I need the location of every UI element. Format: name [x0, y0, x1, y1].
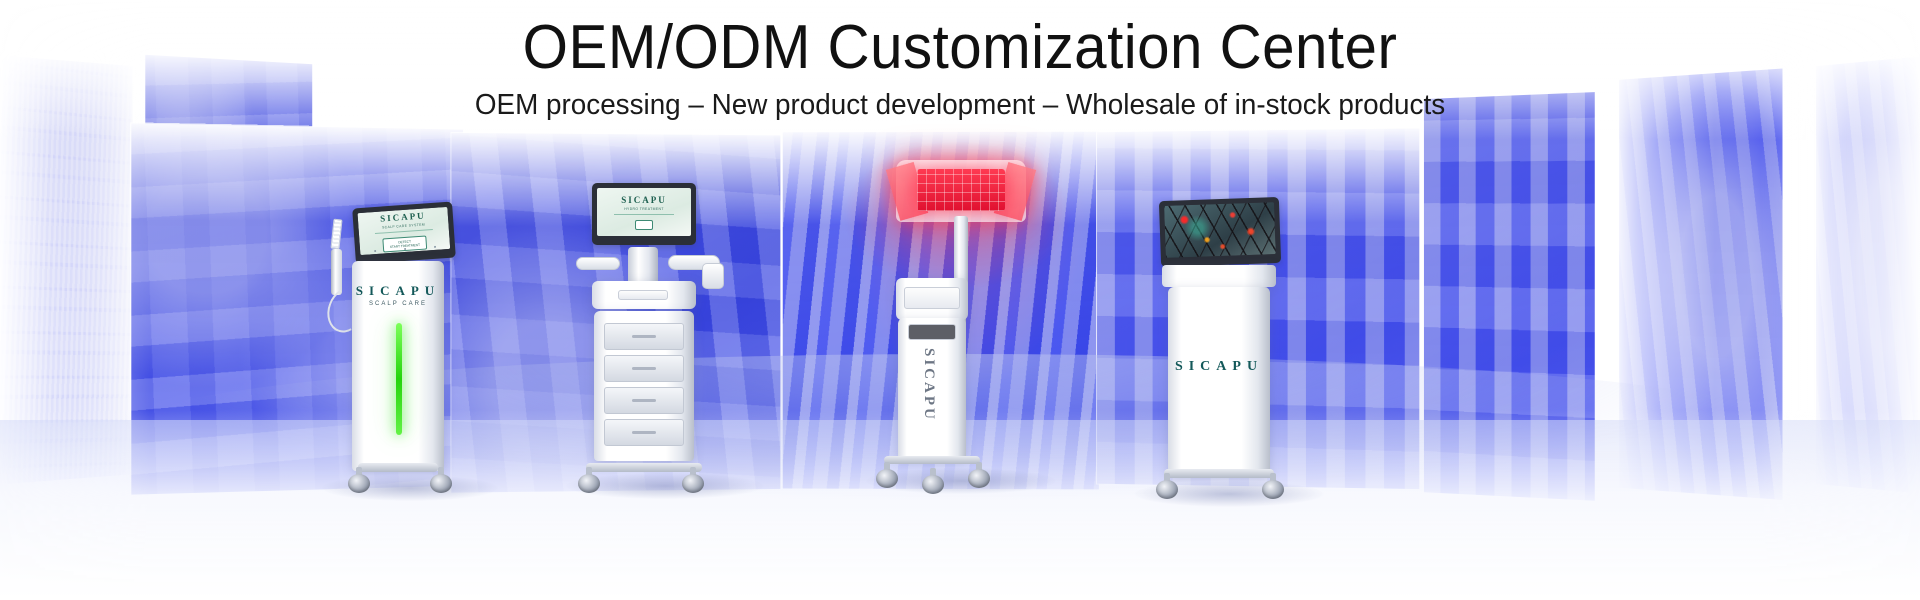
drawer[interactable] — [604, 323, 684, 350]
machine-4-hinge-shelf — [1162, 265, 1276, 287]
machine-3-tower: SICAPU — [898, 318, 966, 460]
machine-4-cabinet: SICAPU — [1168, 287, 1270, 477]
green-led-strip — [396, 323, 402, 435]
caster-wheel — [348, 467, 370, 493]
machine-2-screen-button[interactable] — [635, 220, 653, 230]
machine-1-screen-subtitle: SCALP CARE SYSTEM — [382, 222, 425, 229]
scalp-microscope-image — [1164, 202, 1276, 258]
caster-wheel — [922, 468, 944, 494]
machine-2-neck — [628, 247, 658, 285]
machine-1-cabinet: SICAPU SCALP CARE — [352, 261, 444, 471]
machine-1-screen[interactable]: SICAPU SCALP CARE SYSTEM DETECT START TR… — [358, 207, 451, 255]
machine-3-vertical-brand: SICAPU — [920, 348, 937, 422]
machine-2-display[interactable]: SICAPU HYDRO TREATMENT — [592, 183, 696, 245]
drawer[interactable] — [604, 419, 684, 446]
banner-headings: OEM/ODM Customization Center OEM process… — [0, 0, 1920, 122]
page-title: OEM/ODM Customization Center — [58, 16, 1863, 79]
control-panel[interactable] — [618, 290, 668, 300]
machine-hydrafacial-trolley[interactable]: SICAPU HYDRO TREATMENT — [570, 175, 760, 500]
applicator-head[interactable] — [702, 263, 724, 289]
machine-1-screen-logo: SICAPU — [380, 210, 426, 223]
machine-4-brand: SICAPU — [1168, 359, 1270, 375]
machine-4-base — [1164, 469, 1274, 478]
caster-wheel — [1262, 473, 1284, 499]
caster-wheel — [876, 462, 898, 488]
caster-wheel — [578, 467, 600, 493]
comb-applicator-icon[interactable] — [330, 219, 342, 250]
page-subtitle: OEM processing – New product development… — [38, 89, 1881, 122]
machine-2-screen[interactable]: SICAPU HYDRO TREATMENT — [597, 188, 691, 236]
machine-hair-scalp-analyzer[interactable]: SICAPU — [1140, 195, 1320, 505]
machine-4-display[interactable] — [1159, 197, 1281, 267]
drawer[interactable] — [604, 355, 684, 382]
machine-3-vent — [908, 324, 956, 340]
pdt-led-array — [917, 169, 1005, 211]
machine-2-screen-logo: SICAPU — [621, 195, 667, 205]
machine-2-tray — [592, 281, 696, 309]
machine-4-screen[interactable] — [1164, 202, 1276, 258]
machine-2-drawer-cabinet — [594, 311, 694, 461]
oem-odm-banner: OEM/ODM Customization Center OEM process… — [0, 0, 1920, 600]
machine-1-base — [358, 463, 438, 472]
machine-pdt-led-stand[interactable]: SICAPU — [862, 150, 1062, 500]
caster-wheel — [1156, 473, 1178, 499]
left-articulated-arm[interactable] — [576, 257, 620, 270]
caster-wheel — [682, 467, 704, 493]
machine-1-display[interactable]: SICAPU SCALP CARE SYSTEM DETECT START TR… — [352, 202, 456, 265]
machine-1-brand: SICAPU — [352, 283, 444, 299]
machine-scalp-care[interactable]: SICAPU SCALP CARE SYSTEM DETECT START TR… — [330, 195, 490, 500]
machine-2-screen-subtitle: HYDRO TREATMENT — [624, 207, 664, 211]
machine-3-screen[interactable] — [904, 287, 960, 309]
handpiece[interactable] — [331, 249, 342, 295]
drawer[interactable] — [604, 387, 684, 414]
pdt-lamp-head[interactable] — [896, 160, 1026, 222]
screen-divider — [375, 228, 433, 233]
machine-3-control-head[interactable] — [896, 278, 968, 320]
caster-wheel — [968, 462, 990, 488]
caster-wheel — [430, 467, 452, 493]
screen-divider — [614, 214, 674, 215]
machine-1-model-label: SCALP CARE — [352, 301, 444, 307]
machine-3-base — [884, 456, 980, 464]
